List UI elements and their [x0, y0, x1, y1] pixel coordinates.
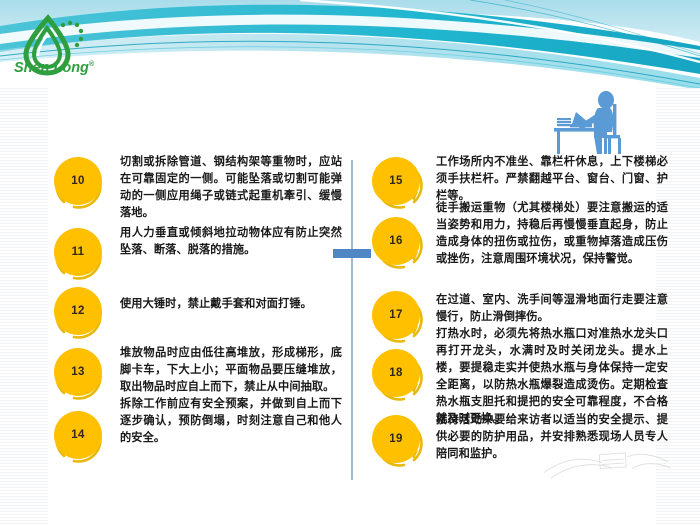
- item-text: 在过道、室内、洗手间等湿滑地面行走要注意慢行，防止滑倒摔伤。: [436, 288, 668, 326]
- step-number: 10: [54, 157, 102, 205]
- list-item[interactable]: 13 堆放物品时应由低往高堆放，形成梯形，底脚卡车，下大上小；平面物品要压缝堆放…: [52, 345, 342, 403]
- list-item[interactable]: 14 拆除工作前应有安全预案，并做到自上而下逐步确认，预防倒塌，时刻注意自己和他…: [52, 408, 342, 466]
- step-number: 15: [372, 157, 420, 205]
- list-item[interactable]: 12 使用大锤时，禁止戴手套和对面打锤。: [52, 284, 312, 342]
- item-text: 工作场所内不准坐、靠栏杆休息，上下楼梯必须手扶栏杆。严禁翻越平台、窗台、门窗、护…: [436, 154, 668, 205]
- step-badge: 14: [52, 408, 110, 466]
- item-text: 切割或拆除管道、钢结构架等重物时，应站在可靠固定的一侧。可能坠落或切割可能弹动的…: [120, 154, 342, 222]
- step-badge: 13: [52, 345, 110, 403]
- item-text: 使用大锤时，禁止戴手套和对面打锤。: [120, 284, 312, 313]
- step-badge: 10: [52, 154, 110, 212]
- step-badge: 12: [52, 284, 110, 342]
- step-badge: 17: [368, 288, 426, 346]
- list-item[interactable]: 16 徒手搬运重物（尤其楼梯处）要注意搬运的适当姿势和用力，持稳后再慢慢垂直起身…: [368, 214, 668, 272]
- left-stripe-panel: [0, 88, 48, 525]
- logo-brand-text: Shen Long: [14, 60, 89, 76]
- logo-trademark: ®: [89, 61, 94, 68]
- step-badge: 18: [368, 346, 426, 404]
- step-number: 18: [372, 349, 420, 397]
- item-text: 拆除工作前应有安全预案，并做到自上而下逐步确认，预防倒塌，时刻注意自己和他人的安…: [120, 396, 342, 447]
- brand-logo: Shen Long®: [14, 12, 110, 80]
- item-text: 徒手搬运重物（尤其楼梯处）要注意搬运的适当姿势和用力，持稳后再慢慢垂直起身，防止…: [436, 200, 668, 268]
- step-badge: 19: [368, 412, 426, 470]
- item-text: 用人力垂直或倾斜地拉动物体应有防止突然坠落、断落、脱落的措施。: [120, 225, 342, 259]
- step-number: 17: [372, 291, 420, 339]
- item-text: 堆放物品时应由低往高堆放，形成梯形，底脚卡车，下大上小；平面物品要压缝堆放，取出…: [120, 345, 342, 396]
- item-text: 接待活动中要给来访者以适当的安全提示、提供必要的防护用品，并安排熟悉现场人员专人…: [436, 412, 668, 463]
- person-at-desk-icon: [536, 88, 666, 156]
- step-badge: 15: [368, 154, 426, 212]
- slide-canvas: Shen Long®: [0, 0, 700, 525]
- step-number: 12: [54, 287, 102, 335]
- list-item[interactable]: 10 切割或拆除管道、钢结构架等重物时，应站在可靠固定的一侧。可能坠落或切割可能…: [52, 154, 342, 222]
- step-number: 13: [54, 348, 102, 396]
- step-badge: 11: [52, 225, 110, 283]
- step-number: 19: [372, 415, 420, 463]
- list-item[interactable]: 11 用人力垂直或倾斜地拉动物体应有防止突然坠落、断落、脱落的措施。: [52, 225, 342, 283]
- list-item[interactable]: 19 接待活动中要给来访者以适当的安全提示、提供必要的防护用品，并安排熟悉现场人…: [368, 412, 668, 470]
- step-number: 16: [372, 217, 420, 265]
- step-number: 14: [54, 411, 102, 459]
- column-divider-line: [351, 160, 353, 480]
- step-badge: 16: [368, 214, 426, 272]
- step-number: 11: [54, 228, 102, 276]
